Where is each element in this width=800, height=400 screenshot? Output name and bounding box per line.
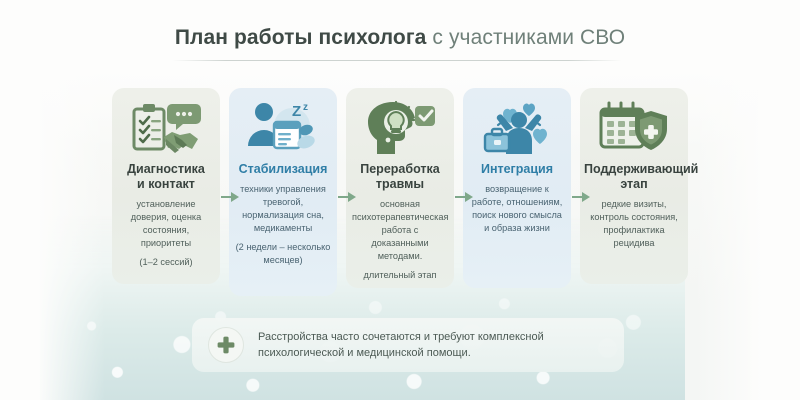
person-sleep-medication-icon: Z z <box>233 98 333 158</box>
footer-note-line1: Расстройства часто сочетаются и требуют … <box>258 329 544 345</box>
stage-title: Интеграция <box>467 162 567 177</box>
stage-card-diagnostika[interactable]: Диагностикаи контакт установление довери… <box>112 88 220 284</box>
stage-body: техники управления тревогой, нормализаци… <box>233 183 333 235</box>
footer-note-text: Расстройства часто сочетаются и требуют … <box>258 329 544 361</box>
stage-body: возвращение к работе, отношениям, поиск … <box>467 183 567 235</box>
clipboard-handshake-icon <box>116 98 216 158</box>
header-divider <box>172 60 622 61</box>
stages-row: Диагностикаи контакт установление довери… <box>112 88 688 300</box>
page-header: План работы психолога с участниками СВО <box>0 26 800 50</box>
arrow-right-icon <box>338 190 356 202</box>
arrow-right-icon <box>455 190 473 202</box>
footer-note-banner: Расстройства часто сочетаются и требуют … <box>192 318 624 372</box>
medical-cross-icon <box>208 327 244 363</box>
calendar-shield-icon <box>584 98 684 158</box>
arrow-right-icon <box>221 190 239 202</box>
stage-body: установление доверия, оценка состояния, … <box>116 198 216 250</box>
svg-text:z: z <box>303 102 308 113</box>
head-lightbulb-check-icon <box>350 98 450 158</box>
stage-body: редкие визиты, контроль состояния, профи… <box>584 198 684 250</box>
stage-body: основная психотерапевтическая работа с д… <box>350 198 450 263</box>
stage-card-podderzhivayushchiy-etap[interactable]: Поддерживающийэтап редкие визиты, контро… <box>580 88 688 284</box>
page-title-light: с участниками СВО <box>432 26 625 49</box>
page-title-strong: План работы психолога <box>175 26 427 49</box>
stage-title: Поддерживающийэтап <box>584 162 684 192</box>
svg-text:Z: Z <box>292 103 301 120</box>
stage-card-integratsiya[interactable]: Интеграция возвращение к работе, отношен… <box>463 88 571 288</box>
stage-extra: (1–2 сессий) <box>116 256 216 269</box>
stage-extra: длительный этап <box>350 269 450 282</box>
person-hearts-briefcase-icon <box>467 98 567 158</box>
infographic-canvas: План работы психолога с участниками СВО <box>0 0 800 400</box>
arrow-right-icon <box>572 190 590 202</box>
page-title: План работы психолога с участниками СВО <box>0 26 800 50</box>
stage-card-pererabotka-travmy[interactable]: Переработкатравмы основная психотерапевт… <box>346 88 454 288</box>
stage-title: Диагностикаи контакт <box>116 162 216 192</box>
stage-title: Стабилизация <box>233 162 333 177</box>
stage-title: Переработкатравмы <box>350 162 450 192</box>
stage-card-stabilizatsiya[interactable]: Z z Стабилизация техники упра <box>229 88 337 296</box>
stage-extra: (2 недели – несколько месяцев) <box>233 241 333 267</box>
footer-note-line2: психологической и медицинской помощи. <box>258 345 544 361</box>
